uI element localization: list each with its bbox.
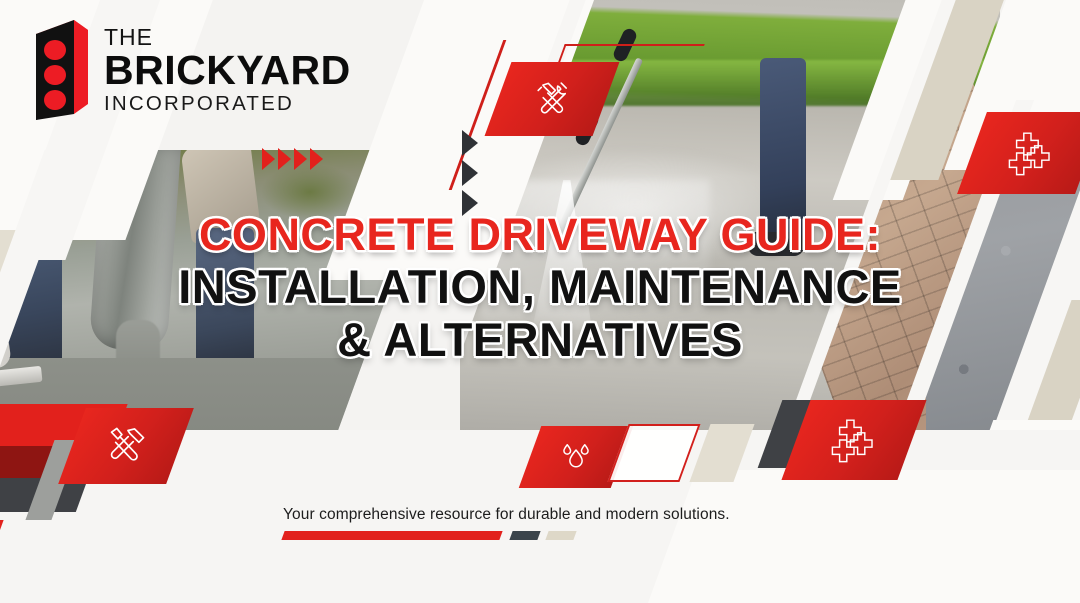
logo-line-incorporated: INCORPORATED — [104, 94, 351, 115]
chevron-right-icon — [294, 148, 307, 170]
tools-hammer-wrench-icon — [529, 76, 575, 122]
rule-segment-red — [281, 531, 502, 540]
subtitle-text: Your comprehensive resource for durable … — [283, 506, 730, 524]
dark-chevrons-decor — [462, 130, 478, 216]
title-line-2: INSTALLATION, MAINTENANCE — [0, 263, 1080, 311]
logo-line-the: THE — [104, 26, 351, 49]
tools-hammer-screwdriver-icon — [102, 422, 150, 470]
chevron-right-icon — [262, 148, 275, 170]
chevron-right-icon — [310, 148, 323, 170]
title-line-1: CONCRETE DRIVEWAY GUIDE: — [0, 212, 1080, 258]
paver-pattern-icon — [827, 413, 881, 467]
hero-banner: THE BRICKYARD INCORPORATED CONCRETE DRIV… — [0, 0, 1080, 603]
red-chevrons-decor — [262, 148, 323, 170]
chevron-right-icon — [462, 160, 478, 186]
brick-logo-icon — [26, 18, 90, 122]
page-title: CONCRETE DRIVEWAY GUIDE: INSTALLATION, M… — [0, 212, 1080, 364]
subtitle-block: Your comprehensive resource for durable … — [283, 506, 730, 543]
rule-segment-dark — [509, 531, 540, 540]
chevron-right-icon — [462, 130, 478, 156]
title-line-3: & ALTERNATIVES — [0, 316, 1080, 364]
rule-segment-beige — [545, 531, 576, 540]
brand-logo[interactable]: THE BRICKYARD INCORPORATED — [26, 18, 351, 122]
water-droplets-icon — [555, 436, 597, 478]
subtitle-underline-rule — [283, 531, 730, 543]
logo-line-brickyard: BRICKYARD — [104, 50, 351, 91]
chevron-right-icon — [278, 148, 291, 170]
paver-pattern-icon — [1004, 126, 1058, 180]
